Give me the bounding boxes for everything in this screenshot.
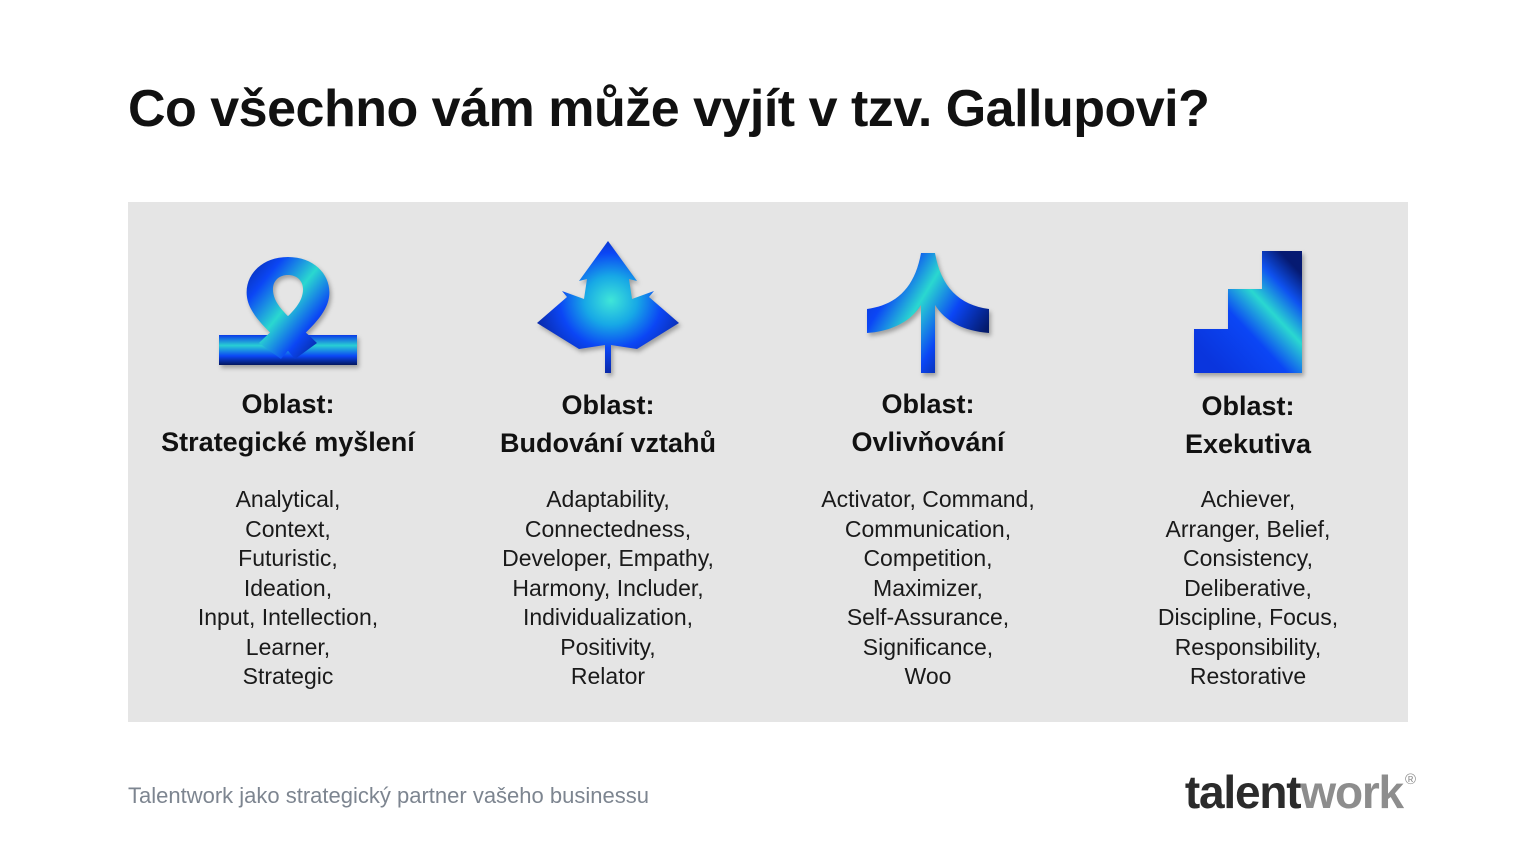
domain-column-relationship-building: Oblast: Budování vztahů Adaptability, Co… <box>448 202 768 722</box>
slide-root: Co všechno vám může vyjít v tzv. Gallupo… <box>0 0 1536 864</box>
column-theme-list: Activator, Command, Communication, Compe… <box>817 485 1038 692</box>
column-heading: Oblast: Ovlivňování <box>845 385 1010 461</box>
domain-column-executing: Oblast: Exekutiva Achiever, Arranger, Be… <box>1088 202 1408 722</box>
loop-ribbon-icon <box>128 202 448 377</box>
up-arrow-icon <box>768 202 1088 377</box>
domain-columns: Oblast: Strategické myšlení Analytical, … <box>128 202 1408 722</box>
column-heading: Oblast: Strategické myšlení <box>155 385 421 461</box>
column-heading: Oblast: Exekutiva <box>1179 387 1317 463</box>
leaf-icon <box>448 202 768 377</box>
domain-column-strategic-thinking: Oblast: Strategické myšlení Analytical, … <box>128 202 448 722</box>
content-panel: Oblast: Strategické myšlení Analytical, … <box>128 202 1408 722</box>
domain-column-influencing: Oblast: Ovlivňování Activator, Command, … <box>768 202 1088 722</box>
column-theme-list: Achiever, Arranger, Belief, Consistency,… <box>1154 485 1342 692</box>
column-theme-list: Analytical, Context, Futuristic, Ideatio… <box>194 485 382 692</box>
footer-tagline: Talentwork jako strategický partner vaše… <box>128 782 649 810</box>
registered-trademark-icon: ® <box>1405 772 1416 787</box>
column-heading: Oblast: Budování vztahů <box>494 386 722 462</box>
stairs-icon <box>1088 202 1408 377</box>
logo-text-work: work <box>1300 766 1403 818</box>
page-title: Co všechno vám může vyjít v tzv. Gallupo… <box>128 78 1408 140</box>
logo-text-talent: talent <box>1185 766 1300 818</box>
talentwork-logo: talentwork® <box>1185 766 1416 818</box>
column-theme-list: Adaptability, Connectedness, Developer, … <box>498 485 718 692</box>
